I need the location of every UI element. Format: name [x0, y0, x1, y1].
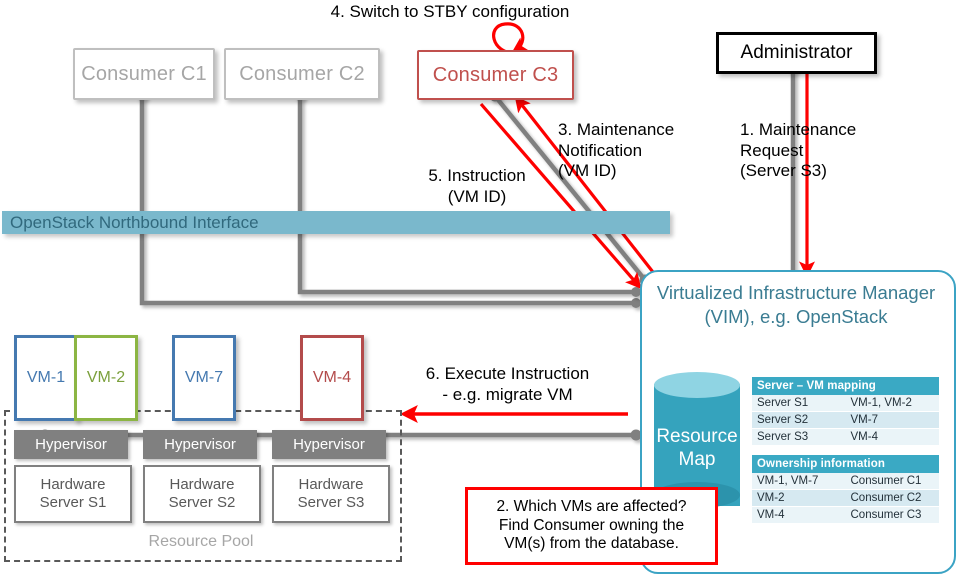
- resource-map-line2: Map: [648, 449, 746, 472]
- consumer-box-c1[interactable]: Consumer C1: [73, 48, 215, 100]
- table-row[interactable]: Server S2 VM-7: [752, 412, 939, 429]
- vm-box-vm-4[interactable]: VM-4: [300, 335, 364, 421]
- hardware-server-s3[interactable]: Hardware Server S3: [272, 465, 390, 523]
- cell-server-s2-vms: VM-7: [846, 412, 940, 429]
- vim-title: Virtualized Infrastructure Manager (VIM)…: [645, 281, 947, 330]
- hardware-s2-line1: Hardware: [169, 476, 234, 494]
- consumer-box-c2[interactable]: Consumer C2: [224, 48, 380, 100]
- vm-box-vm-1[interactable]: VM-1: [14, 335, 78, 421]
- openstack-northbound-interface-bar: OpenStack Northbound Interface: [2, 211, 670, 234]
- step4-label: 4. Switch to STBY configuration: [290, 2, 610, 23]
- resource-pool-label: Resource Pool: [4, 530, 398, 554]
- hardware-server-s2[interactable]: Hardware Server S2: [143, 465, 261, 523]
- hypervisor-1-label: Hypervisor: [35, 436, 107, 453]
- hypervisor-2[interactable]: Hypervisor: [143, 430, 257, 459]
- server-vm-mapping-table: Server – VM mapping Server S1 VM-1, VM-2…: [752, 377, 939, 446]
- cell-owner-c3: Consumer C3: [846, 507, 940, 524]
- cell-server-s1-vms: VM-1, VM-2: [846, 395, 940, 412]
- hardware-s2-line2: Server S2: [169, 494, 236, 512]
- consumer-c1-label: Consumer C1: [81, 63, 207, 86]
- hypervisor-3[interactable]: Hypervisor: [272, 430, 386, 459]
- cell-server-s3-vms: VM-4: [846, 429, 940, 446]
- cell-owner-c2: Consumer C2: [846, 490, 940, 507]
- cell-owner-c1: Consumer C1: [846, 473, 940, 490]
- hardware-s1-line1: Hardware: [40, 476, 105, 494]
- step6-label: 6. Execute Instruction - e.g. migrate VM: [400, 364, 615, 405]
- cell-vm4: VM-4: [752, 507, 846, 524]
- vm-box-vm-7[interactable]: VM-7: [172, 335, 236, 421]
- resource-map-line1: Resource: [648, 426, 746, 449]
- consumer-c2-label: Consumer C2: [239, 63, 365, 86]
- table-header-ownership-information: Ownership information: [752, 455, 939, 473]
- hardware-s3-line2: Server S3: [298, 494, 365, 512]
- ownership-information-table: Ownership information VM-1, VM-7 Consume…: [752, 455, 939, 524]
- resource-map-label: Resource Map: [648, 426, 746, 472]
- cell-server-s1: Server S1: [752, 395, 846, 412]
- hypervisor-2-label: Hypervisor: [164, 436, 236, 453]
- administrator-box[interactable]: Administrator: [716, 32, 877, 74]
- step5-label: 5. Instruction (VM ID): [402, 166, 552, 207]
- step2-callout: 2. Which VMs are affected? Find Consumer…: [465, 487, 718, 565]
- cell-server-s2: Server S2: [752, 412, 846, 429]
- table-row[interactable]: Server S1 VM-1, VM-2: [752, 395, 939, 412]
- hardware-s1-line2: Server S1: [40, 494, 107, 512]
- cell-vm1-vm7: VM-1, VM-7: [752, 473, 846, 490]
- table-row[interactable]: VM-2 Consumer C2: [752, 490, 939, 507]
- step2-label: 2. Which VMs are affected? Find Consumer…: [496, 498, 686, 555]
- cell-server-s3: Server S3: [752, 429, 846, 446]
- step3-label: 3. Maintenance Notification (VM ID): [558, 120, 718, 182]
- arrow-step4-self-loop: [494, 24, 523, 53]
- hypervisor-1[interactable]: Hypervisor: [14, 430, 128, 459]
- administrator-label: Administrator: [741, 42, 853, 64]
- hardware-s3-line1: Hardware: [298, 476, 363, 494]
- vm-2-label: VM-2: [87, 369, 125, 387]
- hypervisor-3-label: Hypervisor: [293, 436, 365, 453]
- northbound-interface-label: OpenStack Northbound Interface: [2, 213, 259, 233]
- table-row-highlighted[interactable]: Server S3 VM-4: [752, 429, 939, 446]
- cylinder-top: [654, 372, 740, 398]
- cell-vm2: VM-2: [752, 490, 846, 507]
- step1-label: 1. Maintenance Request (Server S3): [740, 120, 945, 182]
- vm-1-label: VM-1: [27, 369, 65, 387]
- hardware-server-s1[interactable]: Hardware Server S1: [14, 465, 132, 523]
- vim-title-line2: (VIM), e.g. OpenStack: [645, 305, 947, 329]
- vm-4-label: VM-4: [313, 369, 351, 387]
- vm-box-vm-2[interactable]: VM-2: [74, 335, 138, 421]
- table-row-highlighted[interactable]: VM-4 Consumer C3: [752, 507, 939, 524]
- consumer-c3-label: Consumer C3: [433, 64, 559, 87]
- table-row[interactable]: VM-1, VM-7 Consumer C1: [752, 473, 939, 490]
- consumer-box-c3[interactable]: Consumer C3: [417, 50, 574, 100]
- vm-7-label: VM-7: [185, 369, 223, 387]
- vim-title-line1: Virtualized Infrastructure Manager: [645, 281, 947, 305]
- table-header-server-vm-mapping: Server – VM mapping: [752, 377, 939, 395]
